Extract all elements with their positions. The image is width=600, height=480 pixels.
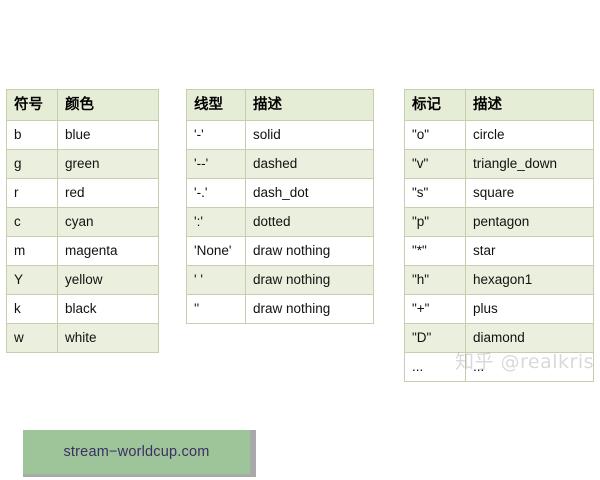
- cell-description: draw nothing: [246, 295, 374, 324]
- cell-marker: "h": [405, 266, 466, 295]
- cell-symbol: Y: [7, 266, 58, 295]
- column-header-linestyle: 线型: [187, 90, 246, 121]
- cell-marker: "*": [405, 237, 466, 266]
- table-header-row: 符号 颜色: [7, 90, 159, 121]
- table-row: r red: [7, 179, 159, 208]
- table-row: g green: [7, 150, 159, 179]
- table-row: "o" circle: [405, 121, 594, 150]
- table-row: ... ...: [405, 353, 594, 382]
- table-row: b blue: [7, 121, 159, 150]
- line-style-table: 线型 描述 '-' solid '--' dashed '-.' dash_do…: [186, 89, 374, 324]
- cell-marker: "s": [405, 179, 466, 208]
- column-header-description: 描述: [466, 90, 594, 121]
- table-row: "D" diamond: [405, 324, 594, 353]
- cell-description: circle: [466, 121, 594, 150]
- table-row: "*" star: [405, 237, 594, 266]
- column-header-marker: 标记: [405, 90, 466, 121]
- cell-linestyle: '--': [187, 150, 246, 179]
- cell-marker: "p": [405, 208, 466, 237]
- table-row: '' draw nothing: [187, 295, 374, 324]
- cell-description: triangle_down: [466, 150, 594, 179]
- site-banner-text: stream−worldcup.com: [63, 444, 209, 460]
- table-row: "s" square: [405, 179, 594, 208]
- cell-color: cyan: [58, 208, 159, 237]
- cell-marker: "D": [405, 324, 466, 353]
- cell-symbol: k: [7, 295, 58, 324]
- table-row: k black: [7, 295, 159, 324]
- table-row: m magenta: [7, 237, 159, 266]
- cell-color: yellow: [58, 266, 159, 295]
- cell-description: square: [466, 179, 594, 208]
- cell-linestyle: '-': [187, 121, 246, 150]
- table-row: 'None' draw nothing: [187, 237, 374, 266]
- table-row: c cyan: [7, 208, 159, 237]
- cell-description: ...: [466, 353, 594, 382]
- cell-linestyle: ' ': [187, 266, 246, 295]
- cell-description: pentagon: [466, 208, 594, 237]
- marker-table: 标记 描述 "o" circle "v" triangle_down "s" s…: [404, 89, 594, 382]
- cell-linestyle: '-.': [187, 179, 246, 208]
- cell-color: magenta: [58, 237, 159, 266]
- cell-marker: "+": [405, 295, 466, 324]
- cell-color: white: [58, 324, 159, 353]
- cell-description: dashed: [246, 150, 374, 179]
- column-header-color: 颜色: [58, 90, 159, 121]
- cell-symbol: g: [7, 150, 58, 179]
- cell-color: black: [58, 295, 159, 324]
- cell-description: solid: [246, 121, 374, 150]
- cell-description: star: [466, 237, 594, 266]
- cell-description: plus: [466, 295, 594, 324]
- table-row: '--' dashed: [187, 150, 374, 179]
- cell-description: dotted: [246, 208, 374, 237]
- cell-symbol: b: [7, 121, 58, 150]
- table-row: "v" triangle_down: [405, 150, 594, 179]
- cell-linestyle: ':': [187, 208, 246, 237]
- color-abbreviation-table: 符号 颜色 b blue g green r red c cyan m: [6, 89, 159, 353]
- table-row: '-.' dash_dot: [187, 179, 374, 208]
- cell-symbol: m: [7, 237, 58, 266]
- cell-marker: "v": [405, 150, 466, 179]
- table-row: '-' solid: [187, 121, 374, 150]
- cell-linestyle: '': [187, 295, 246, 324]
- cell-linestyle: 'None': [187, 237, 246, 266]
- table-row: ':' dotted: [187, 208, 374, 237]
- cell-description: hexagon1: [466, 266, 594, 295]
- cell-marker: "o": [405, 121, 466, 150]
- cell-symbol: r: [7, 179, 58, 208]
- table-row: w white: [7, 324, 159, 353]
- column-header-symbol: 符号: [7, 90, 58, 121]
- table-row: Y yellow: [7, 266, 159, 295]
- cell-description: draw nothing: [246, 266, 374, 295]
- column-header-description: 描述: [246, 90, 374, 121]
- cell-color: blue: [58, 121, 159, 150]
- table-row: "+" plus: [405, 295, 594, 324]
- cell-marker: ...: [405, 353, 466, 382]
- page-root: 符号 颜色 b blue g green r red c cyan m: [0, 0, 600, 480]
- cell-color: red: [58, 179, 159, 208]
- cell-description: draw nothing: [246, 237, 374, 266]
- cell-symbol: c: [7, 208, 58, 237]
- cell-description: diamond: [466, 324, 594, 353]
- table-row: "p" pentagon: [405, 208, 594, 237]
- cell-color: green: [58, 150, 159, 179]
- cell-description: dash_dot: [246, 179, 374, 208]
- table-row: ' ' draw nothing: [187, 266, 374, 295]
- cell-symbol: w: [7, 324, 58, 353]
- table-row: "h" hexagon1: [405, 266, 594, 295]
- table-header-row: 线型 描述: [187, 90, 374, 121]
- site-banner: stream−worldcup.com: [23, 430, 256, 477]
- table-header-row: 标记 描述: [405, 90, 594, 121]
